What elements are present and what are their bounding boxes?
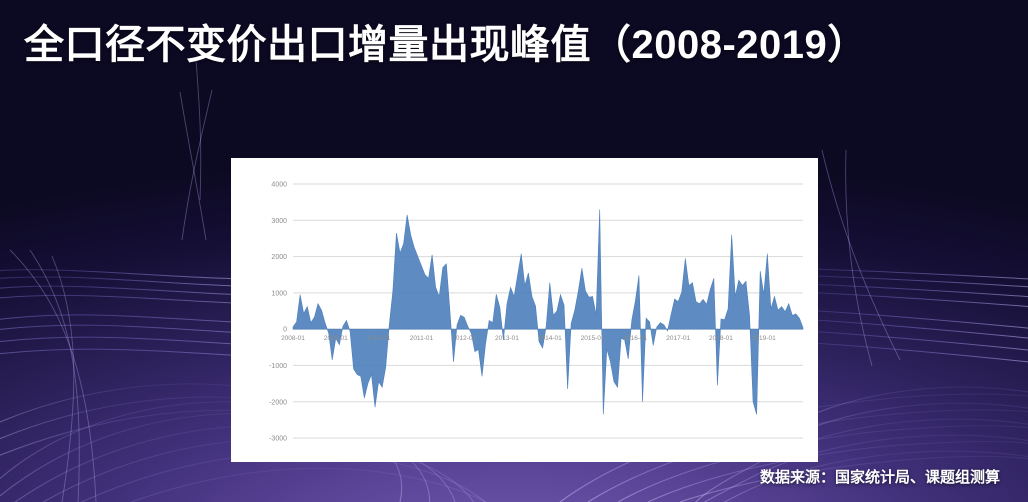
slide-canvas: 全口径不变价出口增量出现峰值（2008-2019） 40003000200010… bbox=[0, 0, 1028, 502]
svg-text:2012-01: 2012-01 bbox=[452, 335, 476, 342]
svg-text:2016-01: 2016-01 bbox=[623, 335, 647, 342]
svg-text:1000: 1000 bbox=[271, 290, 287, 297]
source-note: 数据来源：国家统计局、课题组测算 bbox=[0, 466, 1000, 487]
svg-text:2000: 2000 bbox=[271, 254, 287, 261]
svg-text:2019-01: 2019-01 bbox=[752, 335, 776, 342]
svg-text:2014-01: 2014-01 bbox=[538, 335, 562, 342]
svg-text:2009-01: 2009-01 bbox=[324, 335, 348, 342]
svg-text:2015-01: 2015-01 bbox=[581, 335, 605, 342]
svg-text:2011-01: 2011-01 bbox=[410, 335, 434, 342]
slide-title: 全口径不变价出口增量出现峰值（2008-2019） bbox=[24, 14, 1010, 76]
svg-text:2008-01: 2008-01 bbox=[281, 335, 305, 342]
svg-text:4000: 4000 bbox=[271, 182, 287, 189]
svg-text:-2000: -2000 bbox=[269, 399, 287, 406]
svg-text:2018-01: 2018-01 bbox=[709, 335, 733, 342]
svg-text:2017-01: 2017-01 bbox=[666, 335, 690, 342]
svg-text:-3000: -3000 bbox=[269, 436, 287, 443]
svg-text:2010-01: 2010-01 bbox=[367, 335, 391, 342]
svg-text:0: 0 bbox=[283, 327, 287, 334]
svg-text:2013-01: 2013-01 bbox=[495, 335, 519, 342]
svg-text:3000: 3000 bbox=[271, 218, 287, 225]
svg-text:-1000: -1000 bbox=[269, 363, 287, 370]
export-increment-area-chart: 40003000200010000-1000-2000-30002008-012… bbox=[231, 158, 818, 462]
chart-panel: 40003000200010000-1000-2000-30002008-012… bbox=[231, 158, 818, 462]
